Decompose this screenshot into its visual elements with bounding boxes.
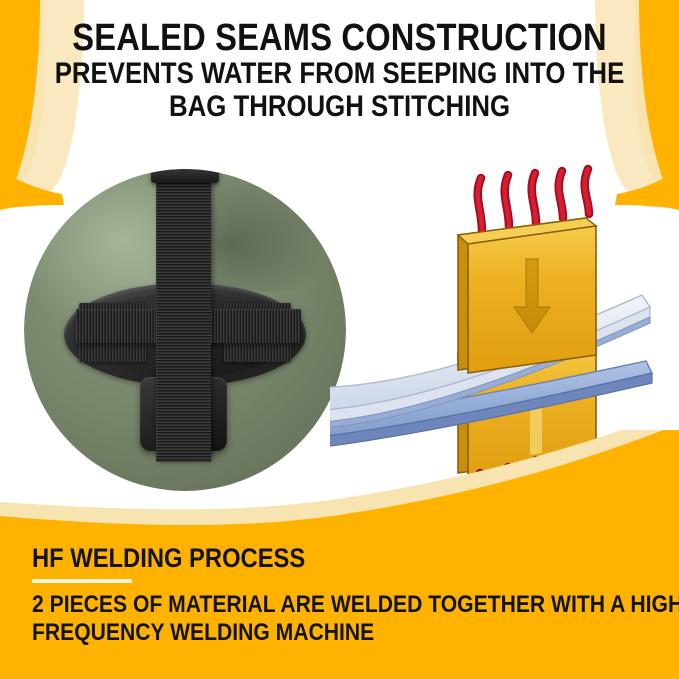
header: SEALED SEAMS CONSTRUCTION PREVENTS WATER…: [0, 18, 679, 123]
footer-body-line-1: 2 PIECES OF MATERIAL ARE WELDED TOGETHER…: [32, 591, 582, 619]
infographic-card: SEALED SEAMS CONSTRUCTION PREVENTS WATER…: [0, 0, 679, 679]
footer-body-line-2: FREQUENCY WELDING MACHINE: [32, 619, 582, 647]
upper-electrode-plate: [458, 218, 596, 373]
strap-buckle: [151, 169, 219, 183]
vertical-webbing-strap: [156, 169, 211, 462]
footer: HF WELDING PROCESS 2 PIECES OF MATERIAL …: [32, 544, 657, 647]
page-subtitle-line-2: BAG THROUGH STITCHING: [48, 91, 632, 123]
page-subtitle-line-1: PREVENTS WATER FROM SEEPING INTO THE: [48, 58, 632, 90]
footer-title: HF WELDING PROCESS: [32, 544, 582, 573]
page-title: SEALED SEAMS CONSTRUCTION: [48, 18, 632, 58]
footer-divider: [32, 579, 132, 583]
